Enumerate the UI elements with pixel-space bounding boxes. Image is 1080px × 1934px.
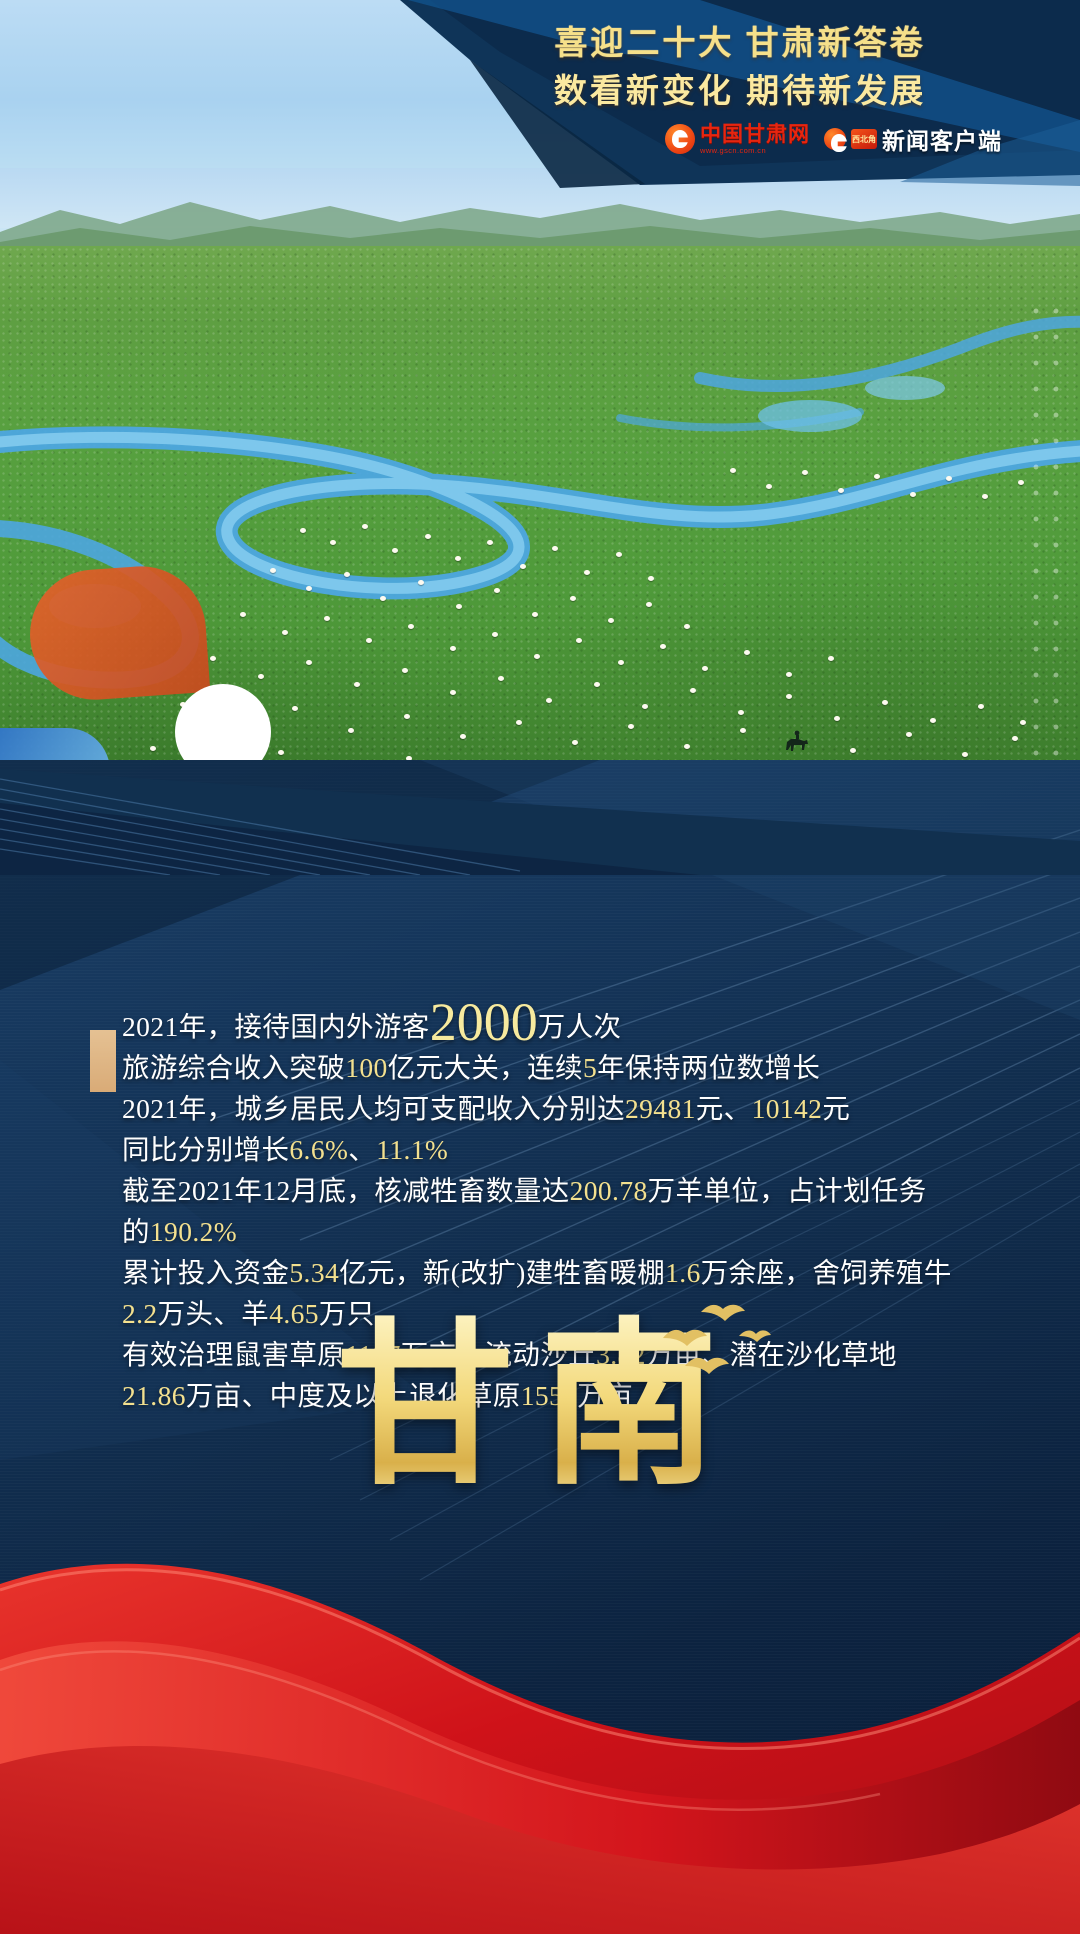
logo-row: 中国甘肃网 www.gscn.com.cn 西北角 新闻客户端 bbox=[665, 122, 1002, 156]
stats-label: 万人次 bbox=[538, 1011, 622, 1042]
stats-label: 同比分别增长 bbox=[122, 1134, 289, 1165]
city-title: 甘南 bbox=[0, 1262, 1080, 1519]
stats-label: 元 bbox=[822, 1093, 850, 1124]
stats-line: 2021年，城乡居民人均可支配收入分别达29481元、10142元 bbox=[122, 1093, 850, 1124]
stats-highlight-number: 2000 bbox=[430, 992, 538, 1052]
decorative-orange-shape bbox=[26, 562, 211, 704]
stats-number: 200.78 bbox=[570, 1175, 648, 1206]
stats-number: 6.6% bbox=[289, 1134, 348, 1165]
flying-birds-icon bbox=[655, 1292, 775, 1392]
stats-number: 190.2% bbox=[150, 1216, 237, 1247]
meandering-river bbox=[0, 228, 1080, 818]
stats-line: 同比分别增长6.6%、11.1% bbox=[122, 1134, 448, 1165]
stats-label: 旅游综合收入突破 bbox=[122, 1052, 345, 1083]
news-app-logo[interactable]: 西北角 新闻客户端 bbox=[824, 122, 1002, 156]
stats-line: 旅游综合收入突破100亿元大关，连续5年保持两位数增长 bbox=[122, 1052, 820, 1083]
stats-number: 10142 bbox=[752, 1093, 823, 1124]
stats-number: 29481 bbox=[625, 1093, 696, 1124]
gansu-net-logo-name: 中国甘肃网 bbox=[700, 124, 810, 145]
gansu-net-logo[interactable]: 中国甘肃网 www.gscn.com.cn bbox=[665, 124, 810, 155]
text-block-marker bbox=[90, 1030, 116, 1092]
gansu-net-logo-icon bbox=[665, 124, 695, 154]
stats-number: 11.1% bbox=[376, 1134, 448, 1165]
header-title: 喜迎二十大 甘肃新答卷 数看新变化 期待新发展 bbox=[430, 22, 1050, 114]
stats-label: 截至2021年12月底，核减牲畜数量达 bbox=[122, 1175, 570, 1206]
stats-line: 2021年，接待国内外游客2000万人次 bbox=[122, 1011, 621, 1042]
stats-line: 截至2021年12月底，核减牲畜数量达200.78万羊单位，占计划任务的190.… bbox=[122, 1175, 927, 1247]
stats-number: 5 bbox=[583, 1052, 597, 1083]
stats-label: 元、 bbox=[696, 1093, 752, 1124]
header-title-line1: 喜迎二十大 甘肃新答卷 bbox=[430, 22, 1050, 67]
xibeijiao-app-logo-icon bbox=[824, 128, 846, 150]
stats-number: 100 bbox=[345, 1052, 387, 1083]
photo-body-divider bbox=[0, 745, 1080, 875]
stats-label: 、 bbox=[348, 1134, 376, 1165]
xibeijiao-badge: 西北角 bbox=[851, 129, 877, 149]
news-app-logo-name: 新闻客户端 bbox=[882, 122, 1002, 156]
gansu-net-logo-url: www.gscn.com.cn bbox=[700, 147, 810, 155]
stats-label: 年保持两位数增长 bbox=[597, 1052, 820, 1083]
header-title-line2: 数看新变化 期待新发展 bbox=[430, 67, 1050, 115]
gannan-grassland-river-photo bbox=[0, 168, 1080, 818]
header-banner: 喜迎二十大 甘肃新答卷 数看新变化 期待新发展 中国甘肃网 www.gscn.c… bbox=[0, 0, 1080, 260]
stats-label: 2021年，接待国内外游客 bbox=[122, 1011, 430, 1042]
stats-label: 亿元大关，连续 bbox=[388, 1052, 583, 1083]
stats-label: 2021年，城乡居民人均可支配收入分别达 bbox=[122, 1093, 625, 1124]
decorative-dot-grid bbox=[1026, 298, 1066, 818]
